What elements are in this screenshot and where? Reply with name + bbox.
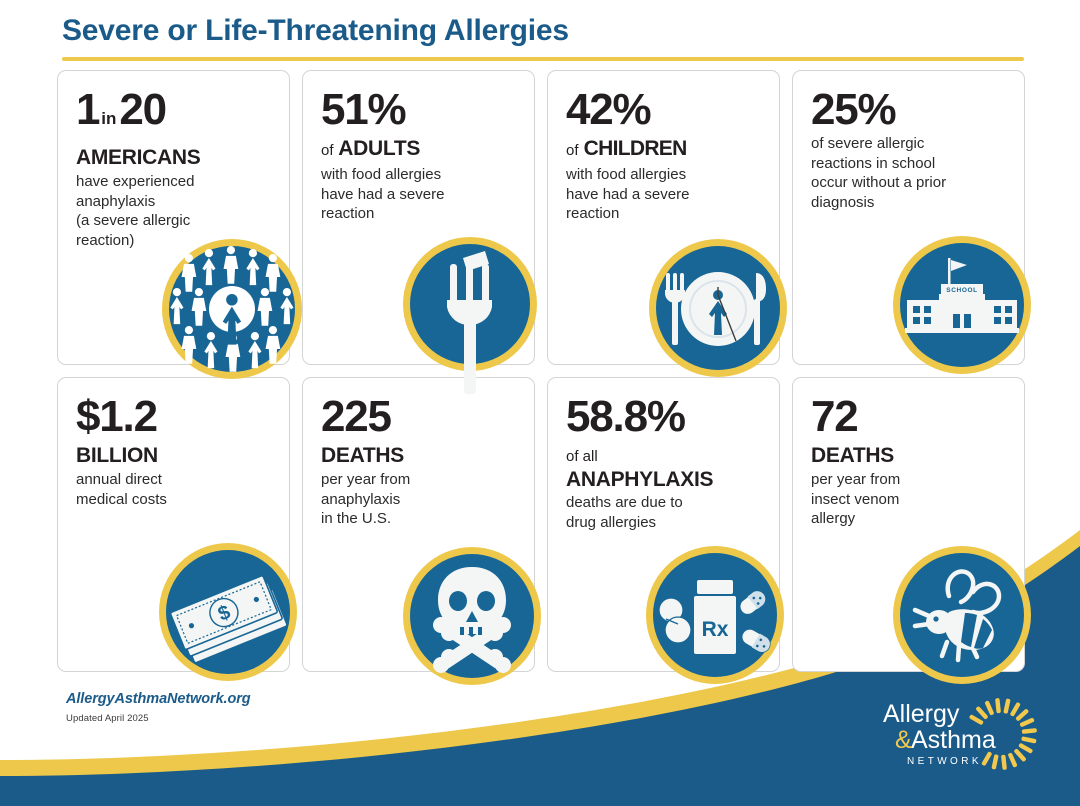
desc-line: with food allergies: [321, 165, 520, 185]
desc-line: anaphylaxis: [321, 490, 520, 510]
desc-line: occur without a prior: [811, 173, 1010, 193]
stat-subtitle: AMERICANS: [76, 145, 275, 170]
skull-and-crossbones-icon: [401, 545, 543, 687]
pill-bottle-icon: Rx: [642, 544, 788, 686]
stat-lead: of all: [566, 448, 598, 465]
desc-line: have had a severe: [321, 185, 520, 205]
stat-value: 42%: [566, 87, 765, 133]
stat-value: 25%: [811, 87, 1010, 133]
stat-card-twenty-five-percent-school: 25% of severe allergic reactions in scho…: [792, 70, 1025, 365]
desc-line: of severe allergic: [811, 134, 1010, 154]
logo-line-2: Asthma: [911, 726, 996, 754]
desc-line: in the U.S.: [321, 509, 520, 529]
desc-line: have had a severe: [566, 185, 765, 205]
stat-subtitle: BILLION: [76, 443, 275, 468]
stat-subtitle: of ADULTS: [321, 136, 520, 163]
stat-suffix: 20: [119, 85, 166, 134]
allergy-asthma-network-logo: Allergy & Asthma NETWORK: [873, 690, 1058, 776]
stat-subtitle-text: ANAPHYLAXIS: [566, 468, 713, 491]
logo-line-3: NETWORK: [907, 756, 982, 767]
desc-line: (a severe allergic: [76, 211, 275, 231]
plate-fork-knife-icon: [644, 237, 792, 379]
desc-line: insect venom: [811, 490, 1010, 510]
crowd-of-people-icon: [156, 238, 308, 380]
stat-lead: of: [321, 142, 334, 159]
stat-value: $1.2: [76, 394, 275, 440]
stat-description: per year from insect venom allergy: [811, 470, 1010, 529]
desc-line: allergy: [811, 509, 1010, 529]
money-icon: $: [156, 541, 300, 683]
card-row-2: $1.2 BILLION annual direct medical costs: [57, 377, 1025, 672]
title-underline-rule: [62, 57, 1024, 61]
stat-description: per year from anaphylaxis in the U.S.: [321, 470, 520, 529]
bee-icon: [891, 544, 1033, 686]
stat-value: 72: [811, 394, 1010, 440]
desc-line: per year from: [321, 470, 520, 490]
stat-card-one-point-two-billion: $1.2 BILLION annual direct medical costs: [57, 377, 290, 672]
fork-icon: [397, 236, 547, 396]
stat-connector: in: [99, 109, 119, 128]
stat-subtitle: of CHILDREN: [566, 136, 765, 163]
rx-label: Rx: [702, 618, 729, 641]
desc-line: have experienced: [76, 172, 275, 192]
stat-lead: of: [566, 142, 579, 159]
desc-line: per year from: [811, 470, 1010, 490]
desc-line: reaction): [76, 231, 275, 251]
svg-text:$: $: [215, 601, 234, 626]
stat-description: with food allergies have had a severe re…: [321, 165, 520, 224]
stat-subtitle: DEATHS: [321, 443, 520, 468]
stat-value: 51%: [321, 87, 520, 133]
stat-card-seventy-two-deaths: 72 DEATHS per year from insect venom all…: [792, 377, 1025, 672]
stat-card-grid: 1in20 AMERICANS have experienced anaphyl…: [57, 70, 1025, 672]
desc-line: reactions in school: [811, 154, 1010, 174]
desc-line: medical costs: [76, 490, 275, 510]
stat-description: have experienced anaphylaxis (a severe a…: [76, 172, 275, 250]
desc-line: deaths are due to: [566, 493, 765, 513]
stat-subtitle-text: CHILDREN: [584, 137, 687, 160]
school-sign-label: SCHOOL: [946, 287, 977, 294]
updated-date: Updated April 2025: [66, 713, 251, 724]
stat-description: of severe allergic reactions in school o…: [811, 134, 1010, 212]
stat-card-fifty-eight-point-eight-percent: 58.8% of allANAPHYLAXIS deaths are due t…: [547, 377, 780, 672]
stat-subtitle: DEATHS: [811, 443, 1010, 468]
stat-card-forty-two-percent-children: 42% of CHILDREN with food allergies have…: [547, 70, 780, 365]
header: Severe or Life-Threatening Allergies: [62, 12, 1022, 61]
desc-line: diagnosis: [811, 193, 1010, 213]
stat-description: with food allergies have had a severe re…: [566, 165, 765, 224]
infographic-page: Severe or Life-Threatening Allergies 1in…: [0, 0, 1080, 806]
stat-prefix: 1: [76, 85, 99, 134]
website-link[interactable]: AllergyAsthmaNetwork.org: [66, 691, 251, 707]
stat-value: 1in20: [76, 87, 275, 142]
desc-line: with food allergies: [566, 165, 765, 185]
desc-line: drug allergies: [566, 513, 765, 533]
stat-subtitle: of allANAPHYLAXIS: [566, 443, 765, 491]
logo-ampersand: &: [895, 726, 912, 754]
stat-card-one-in-twenty-americans: 1in20 AMERICANS have experienced anaphyl…: [57, 70, 290, 365]
footer-credits: AllergyAsthmaNetwork.org Updated April 2…: [66, 691, 251, 724]
desc-line: annual direct: [76, 470, 275, 490]
stat-description: annual direct medical costs: [76, 470, 275, 509]
stat-description: deaths are due to drug allergies: [566, 493, 765, 532]
card-row-1: 1in20 AMERICANS have experienced anaphyl…: [57, 70, 1025, 365]
stat-value: 58.8%: [566, 394, 765, 440]
desc-line: reaction: [566, 204, 765, 224]
page-title: Severe or Life-Threatening Allergies: [62, 12, 1022, 50]
stat-card-two-hundred-twenty-five-deaths: 225 DEATHS per year from anaphylaxis in …: [302, 377, 535, 672]
school-building-icon: SCHOOL: [889, 234, 1035, 376]
stat-subtitle-text: ADULTS: [338, 137, 420, 160]
desc-line: anaphylaxis: [76, 192, 275, 212]
desc-line: reaction: [321, 204, 520, 224]
stat-value: 225: [321, 394, 520, 440]
stat-card-fifty-one-percent-adults: 51% of ADULTS with food allergies have h…: [302, 70, 535, 365]
logo-line-1: Allergy: [883, 700, 960, 728]
